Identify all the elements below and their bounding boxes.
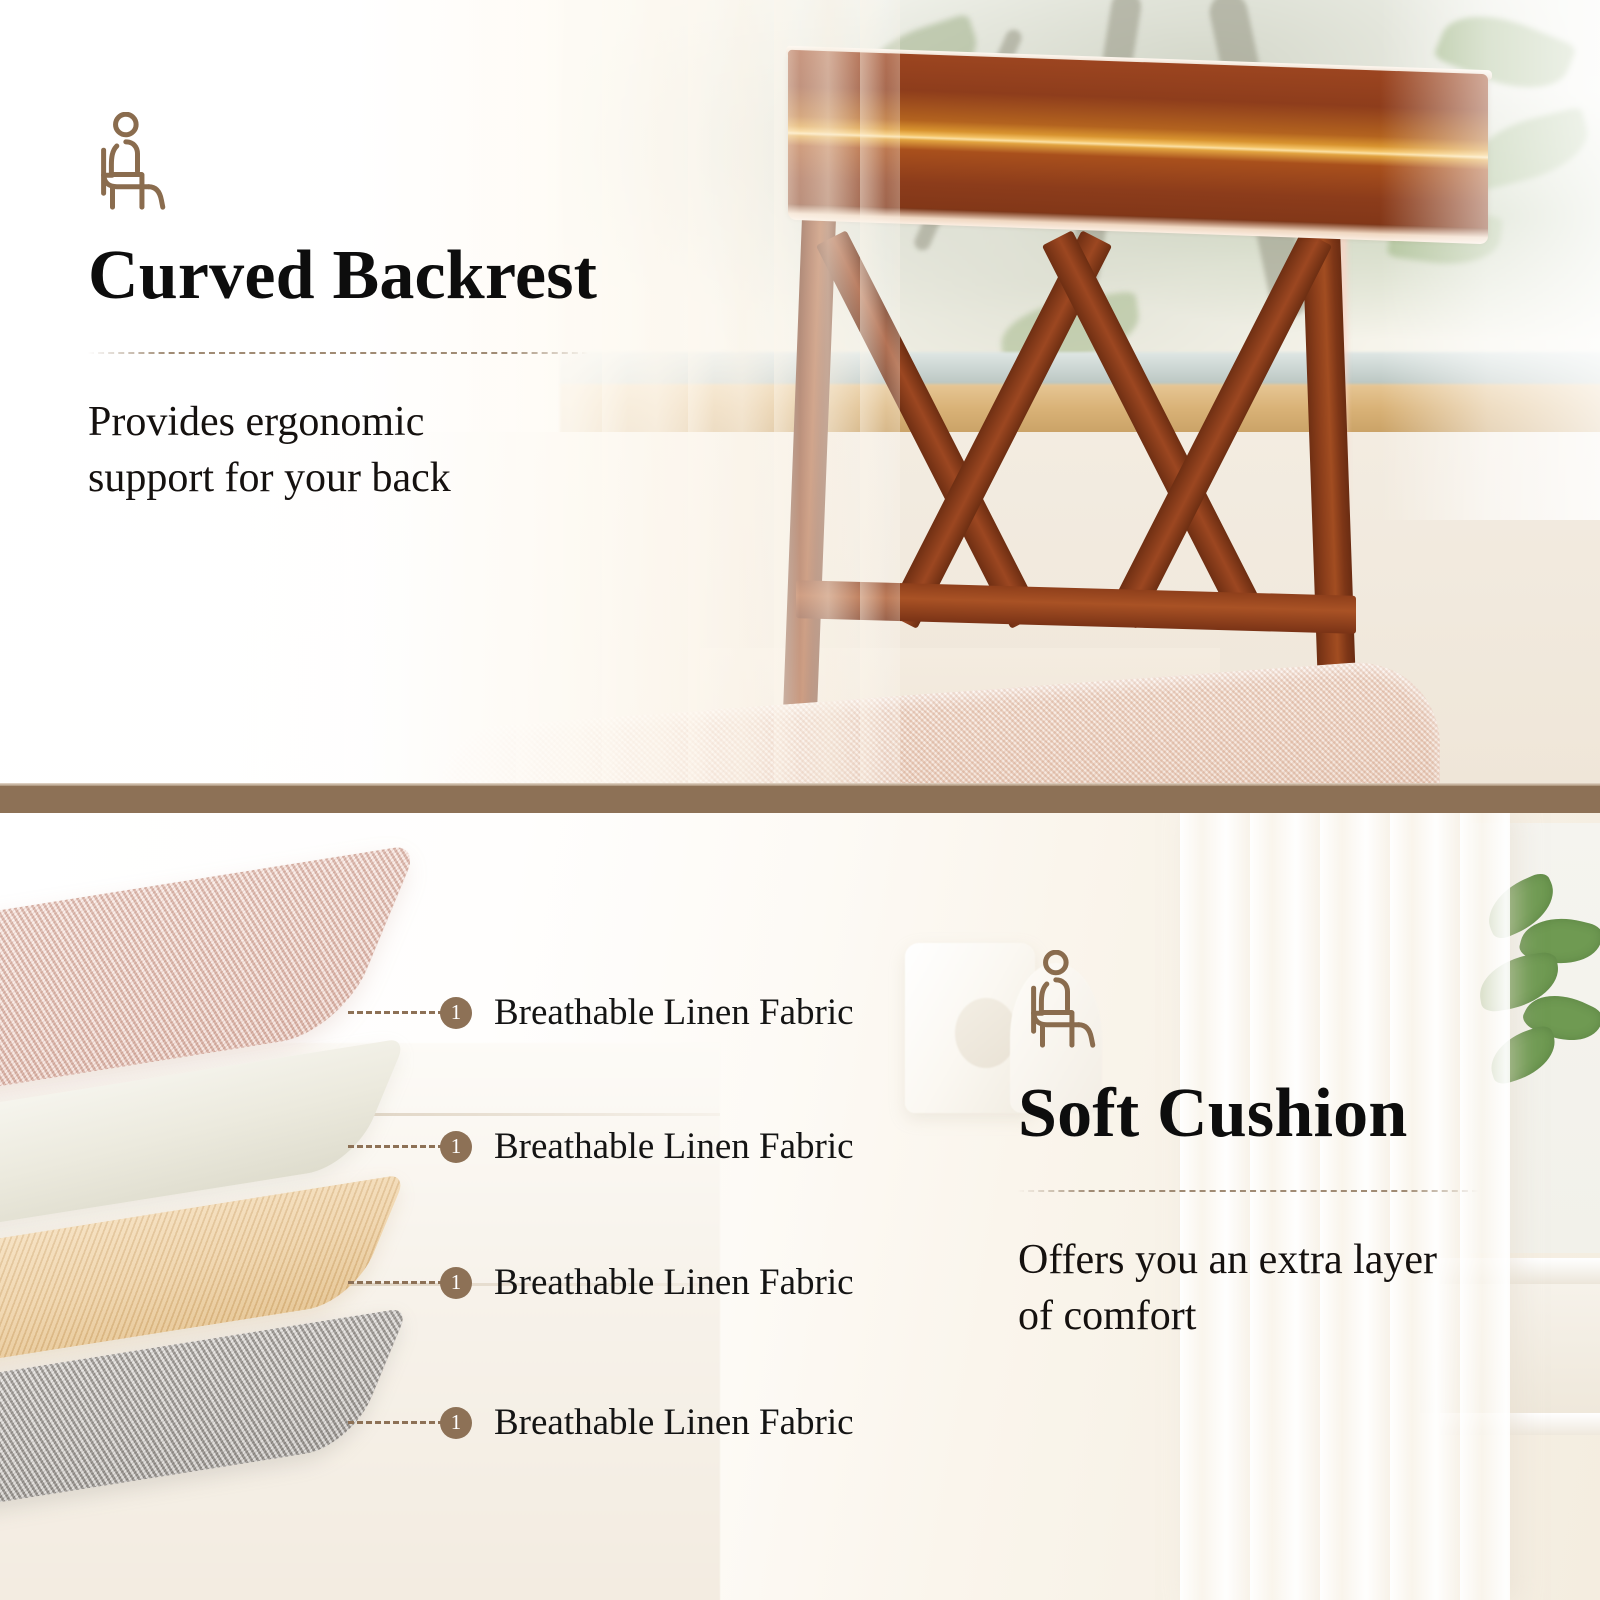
section-divider-band [0, 786, 1600, 813]
feature-block-soft-cushion: Soft Cushion Offers you an extra layer o… [1018, 950, 1478, 1345]
callout-label: Breathable Linen Fabric [494, 1401, 854, 1444]
leader-line [348, 1011, 444, 1014]
page-title: Curved Backrest [88, 236, 597, 316]
callout-label: Breathable Linen Fabric [494, 1261, 854, 1304]
callout-badge: 1 [440, 997, 472, 1029]
leader-line [348, 1421, 444, 1424]
page-title: Soft Cushion [1018, 1074, 1478, 1154]
callout-row: 1 Breathable Linen Fabric [348, 1401, 854, 1444]
feature-block-curved-backrest: Curved Backrest Provides ergonomic suppo… [88, 112, 597, 507]
callout-label: Breathable Linen Fabric [494, 1125, 854, 1168]
callout-label: Breathable Linen Fabric [494, 991, 854, 1034]
callout-row: 1 Breathable Linen Fabric [348, 991, 854, 1034]
panel-curved-backrest: Curved Backrest Provides ergonomic suppo… [0, 0, 1600, 786]
callout-row: 1 Breathable Linen Fabric [348, 1261, 854, 1304]
feature-subtitle: Offers you an extra layer of comfort [1018, 1232, 1478, 1345]
person-sitting-on-chair-icon [88, 112, 172, 212]
title-divider [1018, 1190, 1478, 1192]
callout-row: 1 Breathable Linen Fabric [348, 1125, 854, 1168]
infographic-page: Curved Backrest Provides ergonomic suppo… [0, 0, 1600, 1600]
sheer-curtain-right [1380, 0, 1600, 520]
leader-line [348, 1145, 444, 1148]
callout-badge: 1 [440, 1131, 472, 1163]
callout-badge: 1 [440, 1407, 472, 1439]
title-divider [88, 352, 588, 354]
person-sitting-on-chair-icon [1018, 950, 1102, 1050]
feature-subtitle: Provides ergonomic support for your back [88, 394, 597, 507]
vase-opening [955, 998, 1017, 1068]
leader-line [348, 1281, 444, 1284]
callout-badge: 1 [440, 1267, 472, 1299]
panel-soft-cushion: 1 Breathable Linen Fabric 1 Breathable L… [0, 813, 1600, 1600]
